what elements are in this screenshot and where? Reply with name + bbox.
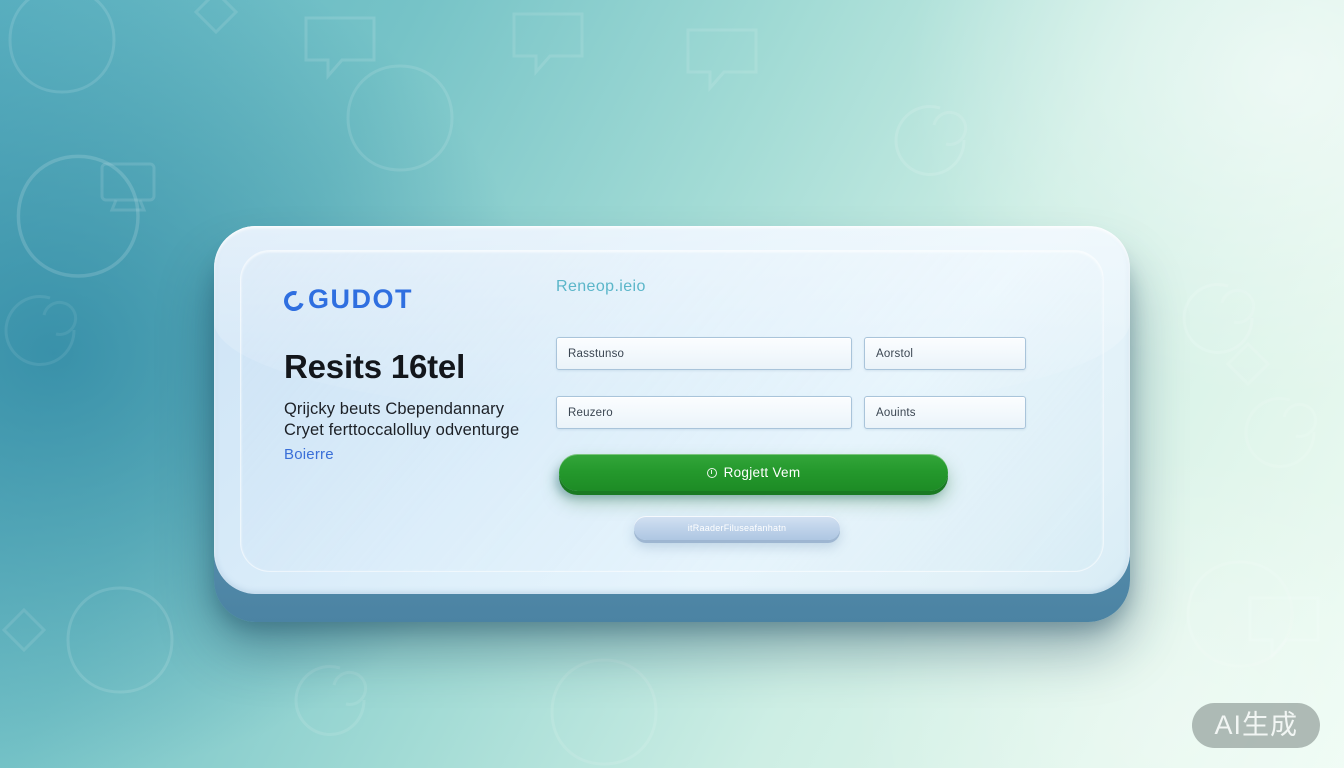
secondary-button-wrap: itRaaderFiluseafanhatn — [634, 516, 840, 540]
primary-button-wrap: Rogjett Vem — [559, 454, 948, 491]
subtitle-line-2: Cryet ferttoccalolluy odventurge — [284, 420, 584, 441]
field-row1-right[interactable]: Aorstol — [864, 337, 1026, 370]
form-row: Reuzero Aouints — [556, 396, 1056, 429]
secondary-action-button[interactable]: itRaaderFiluseafanhatn — [634, 516, 840, 540]
brand-logo-text: GUDOT — [308, 284, 413, 315]
form-row: Rasstunso Aorstol — [556, 337, 1056, 370]
field-row1-left[interactable]: Rasstunso — [556, 337, 852, 370]
brand-logo[interactable]: GUDOT — [284, 284, 584, 315]
screen-root: GUDOT Resits 16tel Qrijcky beuts Cbepend… — [0, 0, 1344, 768]
form-fields: Rasstunso Aorstol Reuzero Aouints — [556, 337, 1056, 429]
page-title: Resits 16tel — [284, 349, 584, 385]
subtitle-accent-link[interactable]: Boierre — [284, 446, 584, 463]
clock-circle-icon — [707, 468, 717, 478]
field-row2-right[interactable]: Aouints — [864, 396, 1026, 429]
subtitle-line-1: Qrijcky beuts Cbependannary — [284, 399, 584, 420]
card-surface: GUDOT Resits 16tel Qrijcky beuts Cbepend… — [214, 226, 1130, 594]
ai-generated-badge: AI生成 — [1192, 703, 1320, 748]
form-section-title: Reneop.ieio — [556, 278, 1056, 296]
main-card: GUDOT Resits 16tel Qrijcky beuts Cbepend… — [214, 226, 1130, 612]
field-row2-left[interactable]: Reuzero — [556, 396, 852, 429]
page-subtitle: Qrijcky beuts Cbependannary Cryet fertto… — [284, 399, 584, 441]
submit-button-label: Rogjett Vem — [724, 465, 801, 480]
card-right-column: Reneop.ieio Rasstunso Aorstol Reuzero Ao… — [556, 278, 1056, 540]
card-left-column: GUDOT Resits 16tel Qrijcky beuts Cbepend… — [284, 284, 584, 463]
submit-button[interactable]: Rogjett Vem — [559, 454, 948, 491]
brand-logo-icon — [280, 287, 307, 314]
secondary-action-label: itRaaderFiluseafanhatn — [688, 523, 787, 533]
